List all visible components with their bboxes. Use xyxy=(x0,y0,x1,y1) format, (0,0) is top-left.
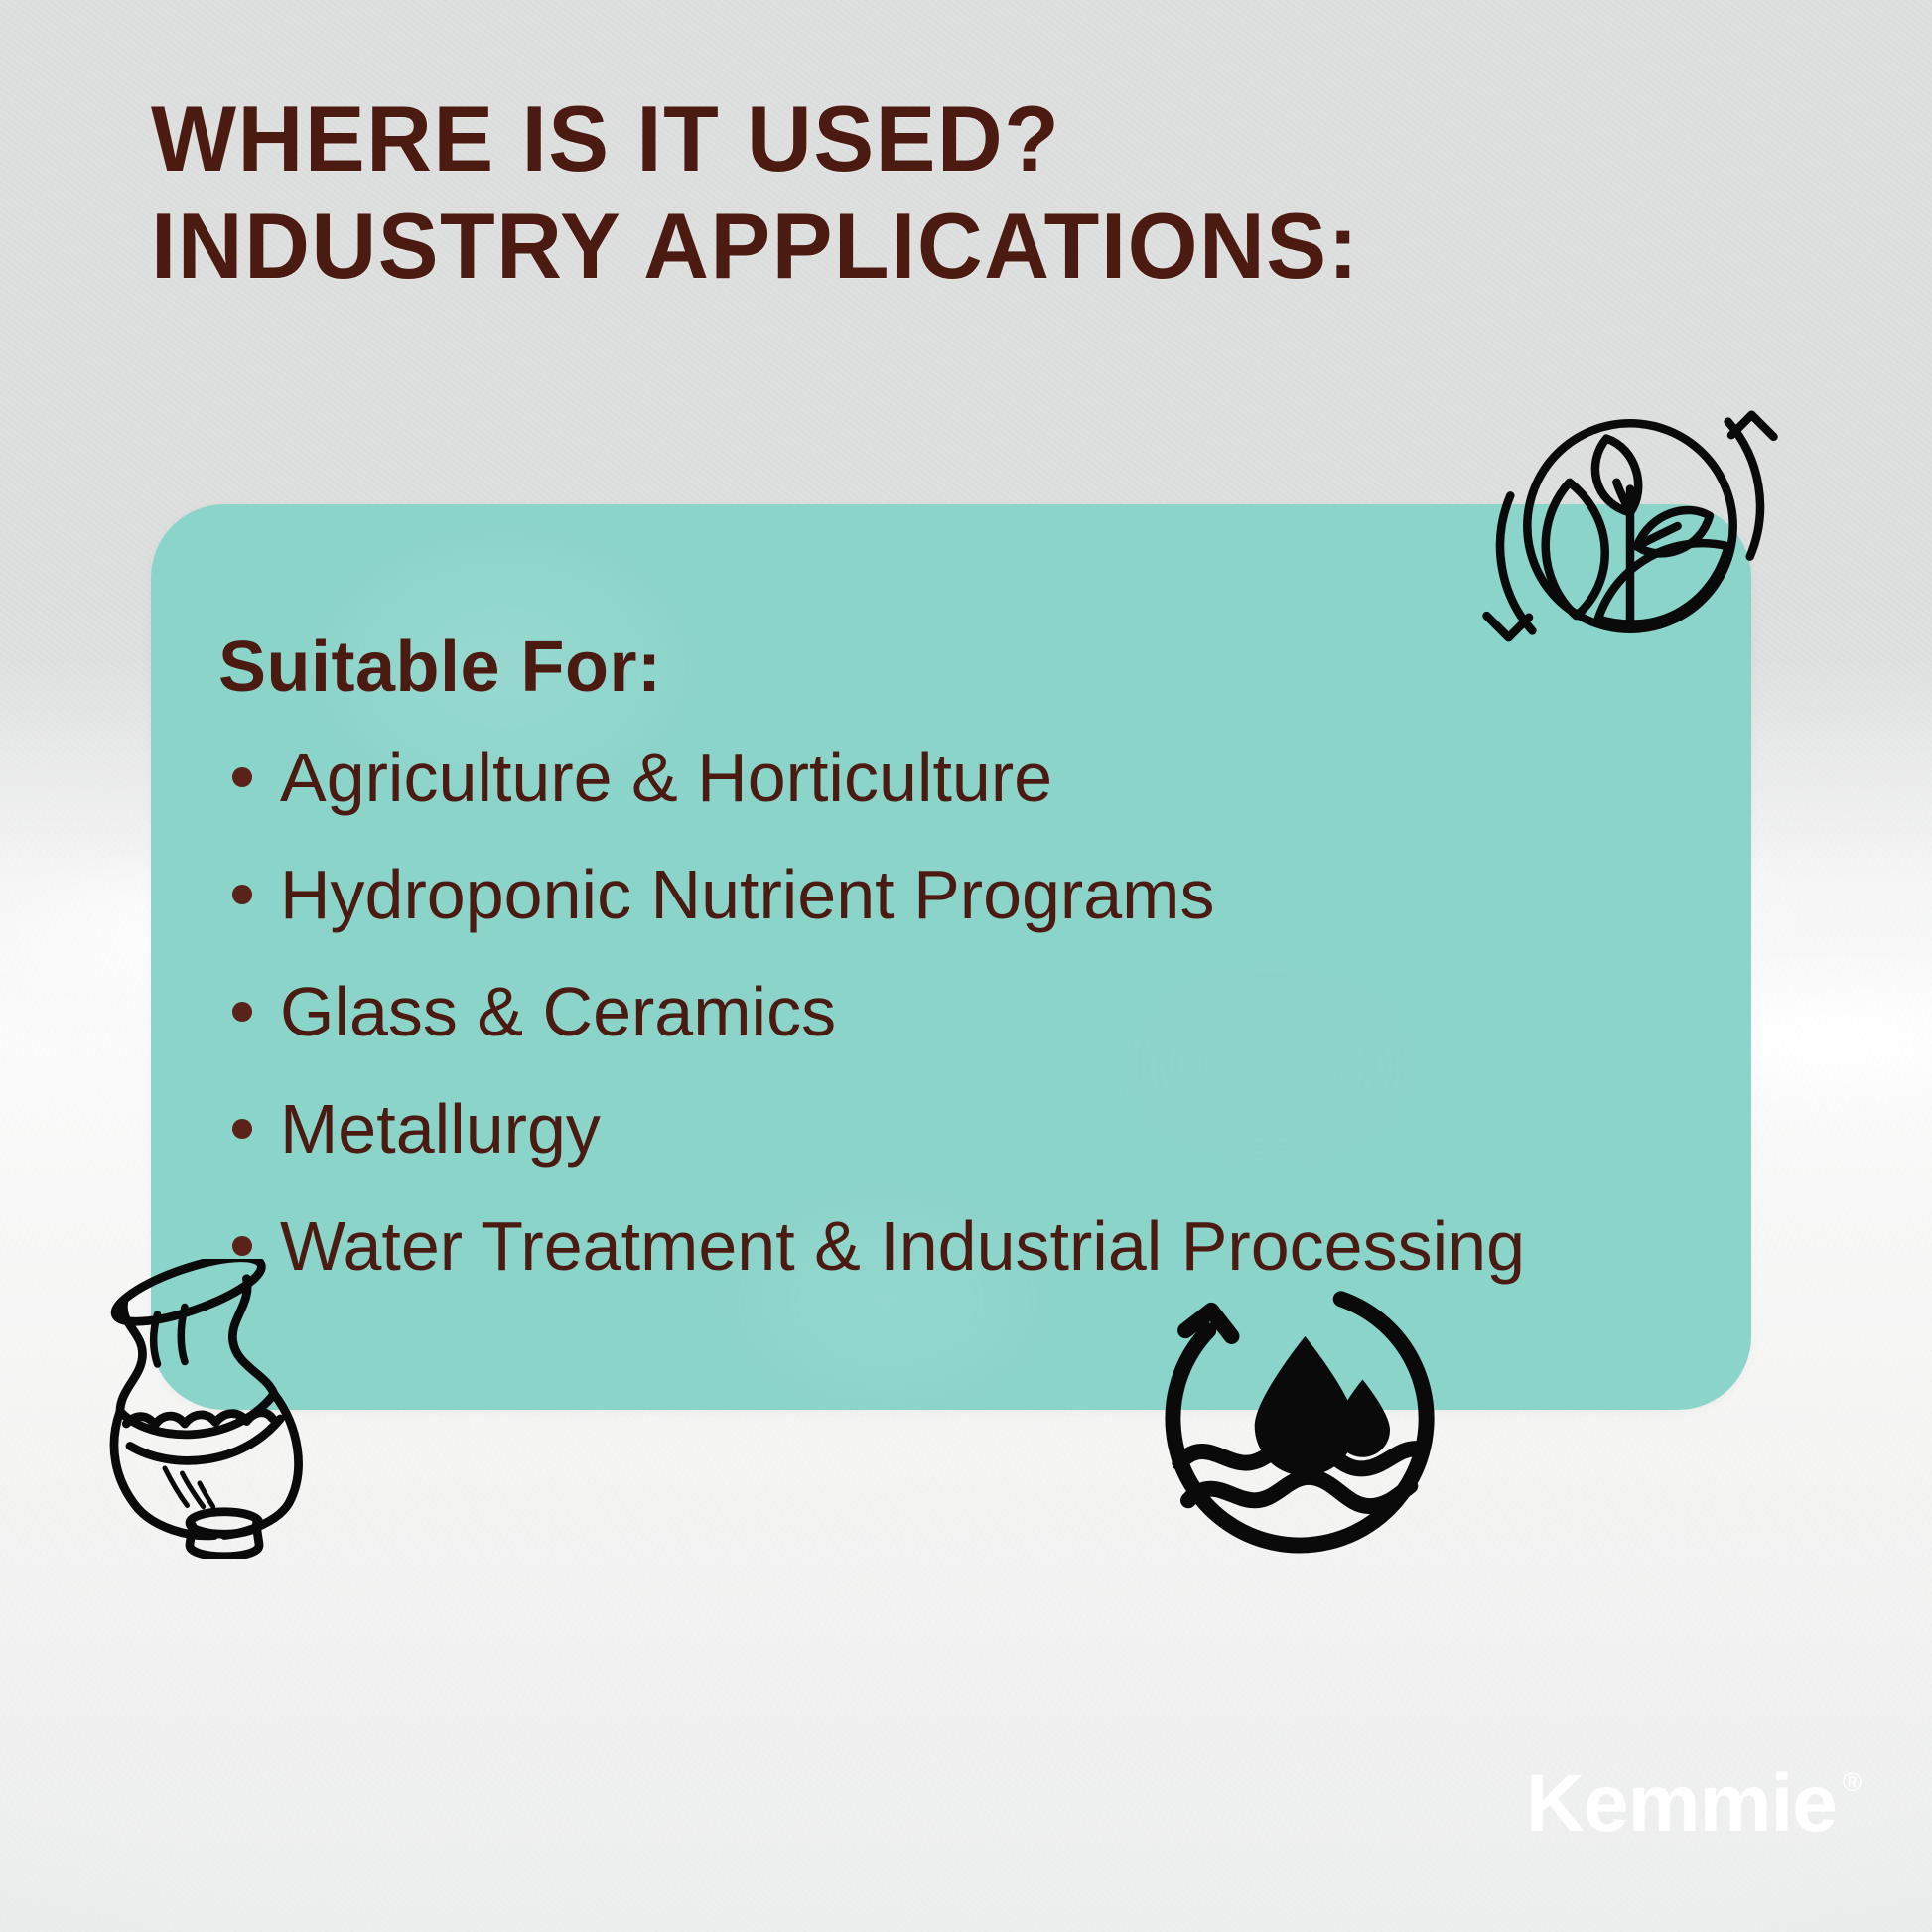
list-item-label: Metallurgy xyxy=(280,1090,601,1168)
bullet-dot-icon xyxy=(232,1002,252,1022)
list-item: Water Treatment & Industrial Processing xyxy=(218,1211,1751,1281)
list-item-label: Glass & Ceramics xyxy=(280,973,836,1050)
plant-recycle-icon xyxy=(1461,357,1799,695)
page-title-line-1: WHERE IS IT USED? xyxy=(151,86,1060,191)
list-item-label: Water Treatment & Industrial Processing xyxy=(280,1207,1525,1285)
list-item-label: Agriculture & Horticulture xyxy=(280,739,1052,816)
bullet-dot-icon xyxy=(232,767,252,787)
brand-wordmark: Kemmie xyxy=(1526,1763,1837,1845)
list-item: Agriculture & Horticulture xyxy=(218,743,1751,812)
applications-list: Agriculture & Horticulture Hydroponic Nu… xyxy=(218,743,1751,1281)
bullet-dot-icon xyxy=(232,1119,252,1139)
list-item: Hydroponic Nutrient Programs xyxy=(218,860,1751,929)
bullet-dot-icon xyxy=(232,885,252,904)
registered-trademark-mark: ® xyxy=(1843,1769,1861,1795)
bullet-dot-icon xyxy=(232,1236,252,1256)
list-item-label: Hydroponic Nutrient Programs xyxy=(280,856,1214,933)
poster-canvas: WHERE IS IT USED? INDUSTRY APPLICATIONS:… xyxy=(0,0,1932,1932)
page-title: WHERE IS IT USED? INDUSTRY APPLICATIONS: xyxy=(151,91,1359,294)
list-item: Metallurgy xyxy=(218,1094,1751,1164)
ceramic-vase-icon xyxy=(85,1259,334,1559)
list-item: Glass & Ceramics xyxy=(218,977,1751,1046)
page-title-line-2: INDUSTRY APPLICATIONS: xyxy=(151,199,1359,294)
brand-logo: Kemmie ® xyxy=(1526,1763,1861,1845)
water-droplet-cycle-icon xyxy=(1160,1279,1448,1567)
